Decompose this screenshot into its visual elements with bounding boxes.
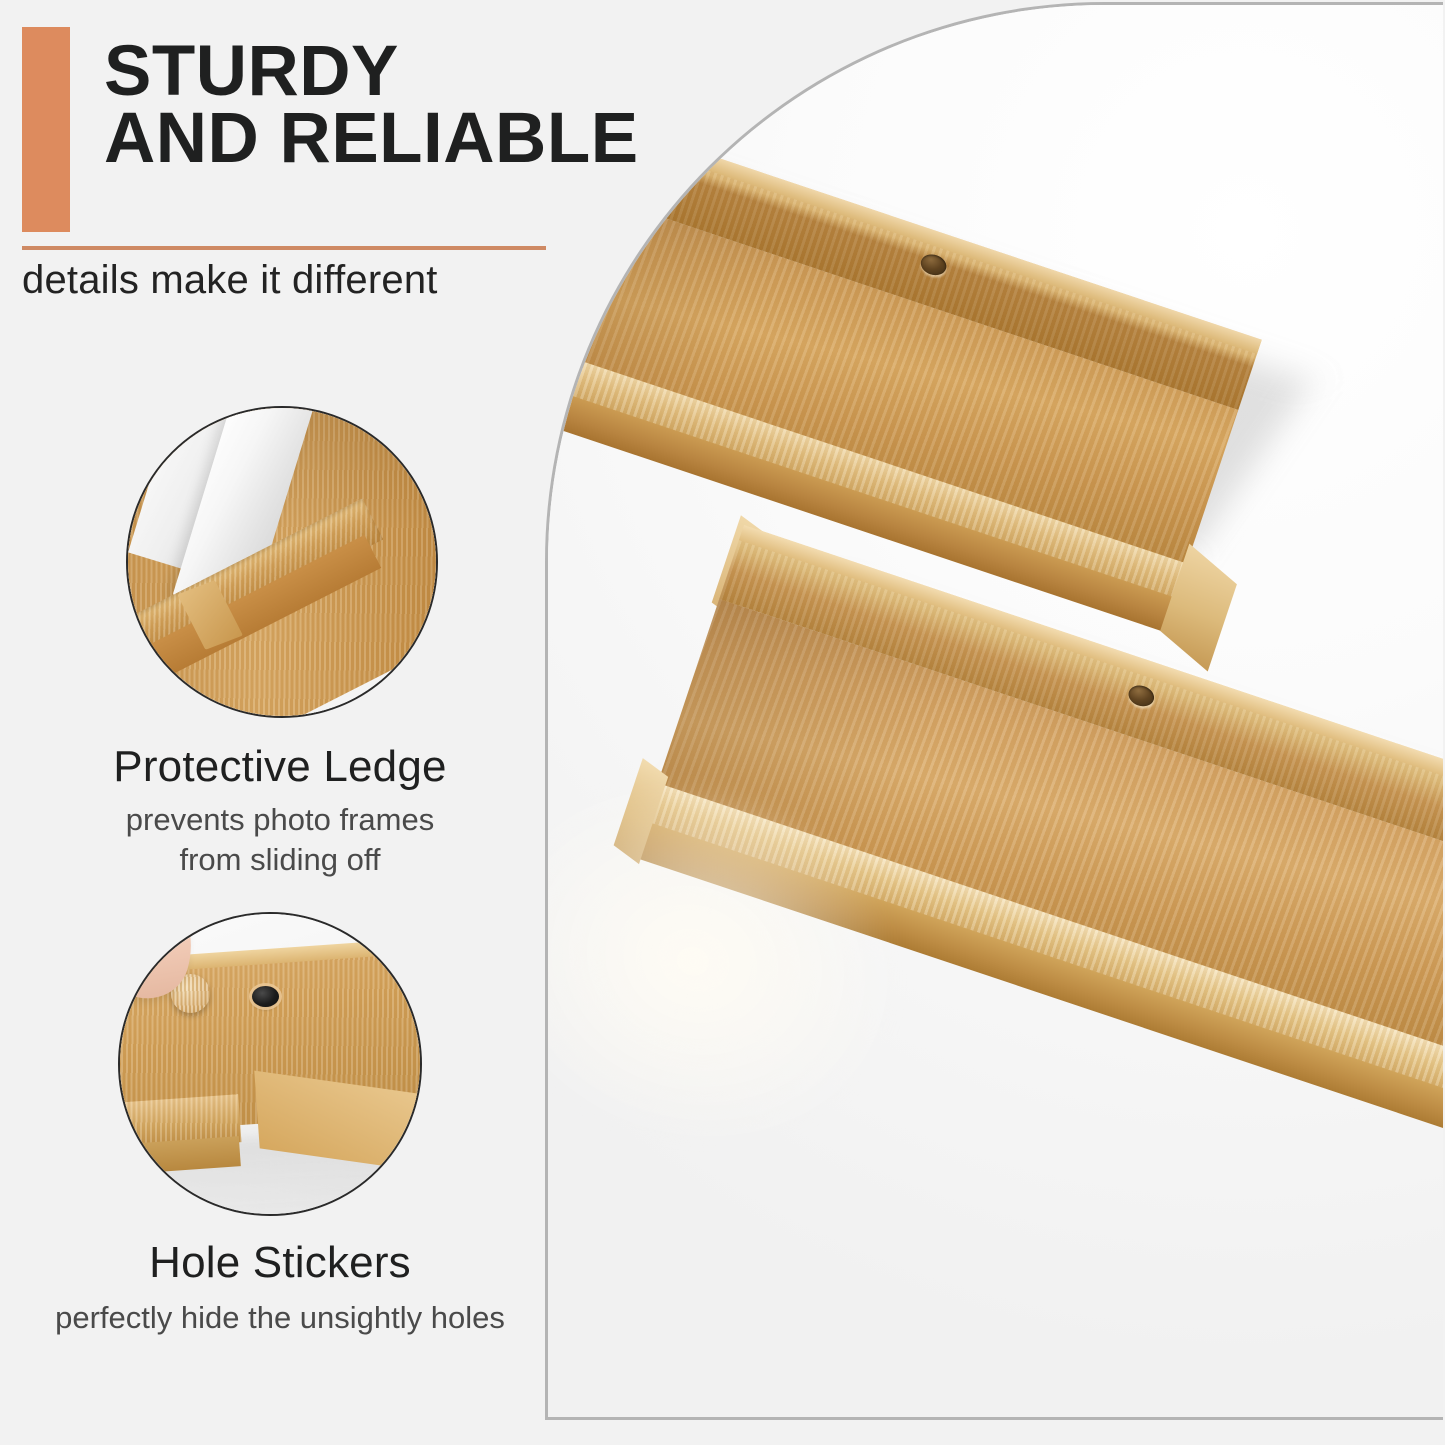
feature-image-protective-ledge — [126, 406, 438, 718]
product-photo-panel — [545, 2, 1443, 1420]
feature-subtitle-hole-stickers: perfectly hide the unsightly holes — [20, 1298, 540, 1338]
accent-bar — [22, 27, 70, 232]
feature-image-hole-stickers — [118, 912, 422, 1216]
feature-subtitle-line-1: prevents photo frames — [40, 800, 520, 840]
feature-title-hole-stickers: Hole Stickers — [60, 1238, 500, 1288]
feature-subtitle-line-1: perfectly hide the unsightly holes — [20, 1298, 540, 1338]
screw-hole — [252, 986, 279, 1007]
feature-title-protective-ledge: Protective Ledge — [60, 742, 500, 792]
feature-subtitle-line-2: from sliding off — [40, 840, 520, 880]
infographic-canvas: STURDY AND RELIABLE details make it diff… — [0, 0, 1445, 1445]
title-divider — [22, 246, 546, 250]
feature-subtitle-protective-ledge: prevents photo frames from sliding off — [40, 800, 520, 879]
fingernail — [120, 914, 128, 916]
